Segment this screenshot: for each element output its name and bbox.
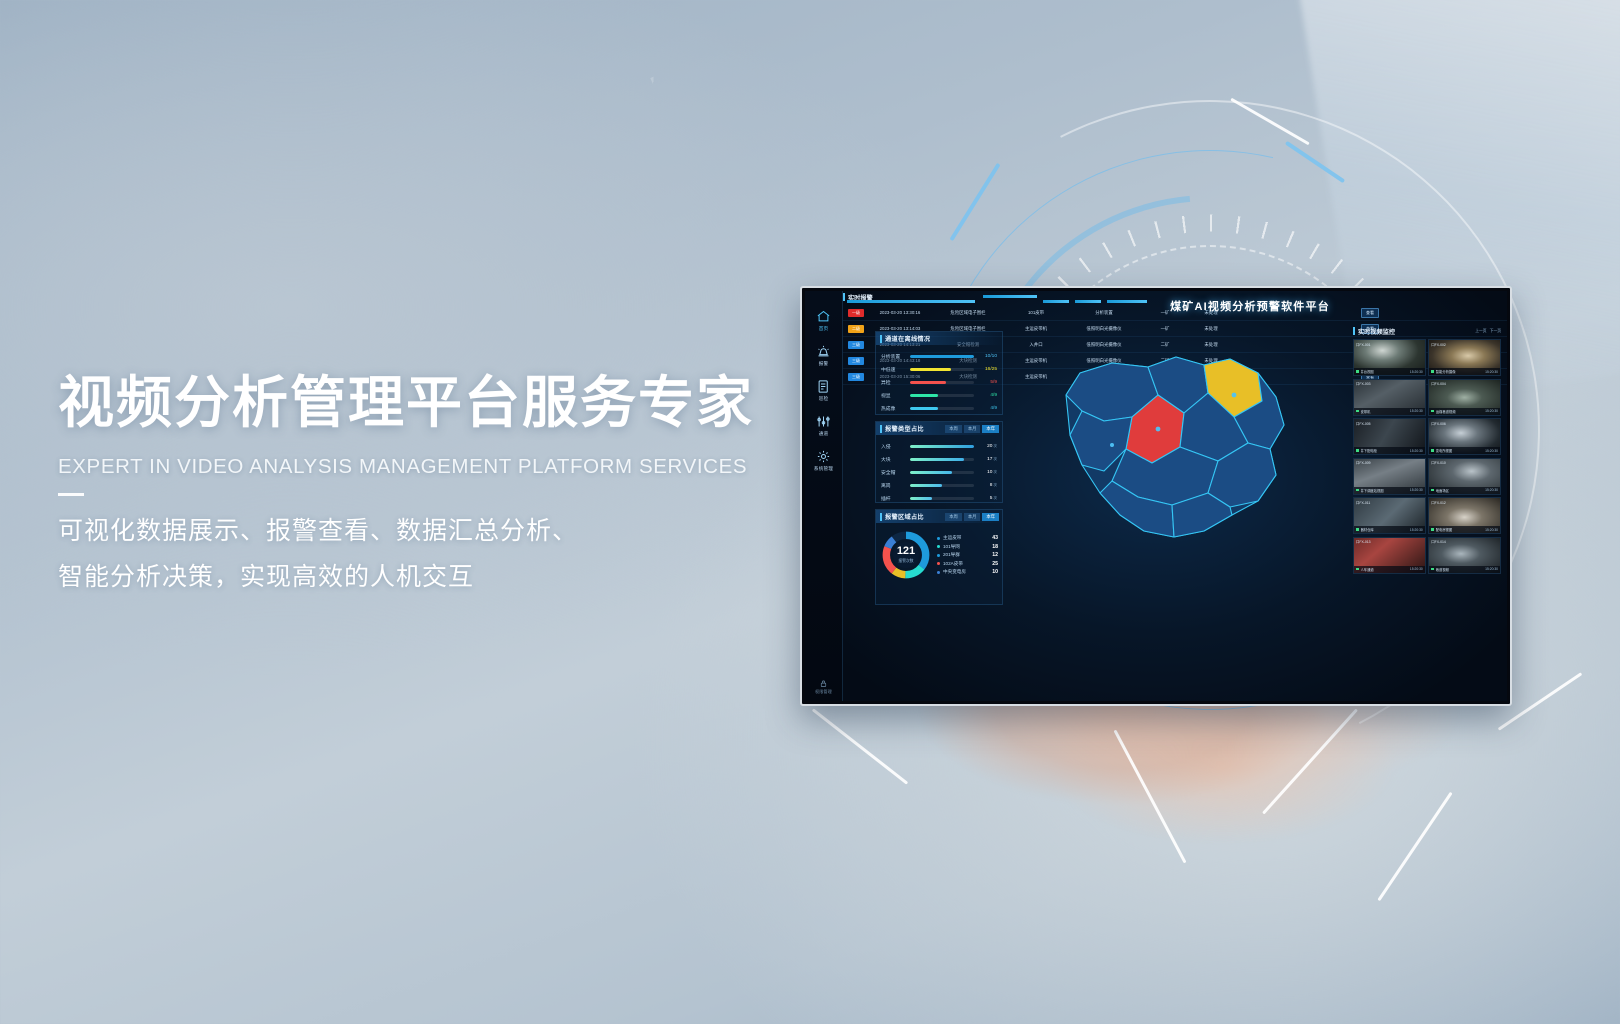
donut-value: 121	[897, 546, 915, 557]
legend-dot	[937, 571, 940, 574]
camera-time: 15:20:30	[1410, 528, 1423, 532]
row-label: 中低速	[881, 366, 907, 373]
row-value: 16/25	[977, 367, 997, 372]
donut-chart[interactable]: 121 报警次数	[880, 529, 932, 581]
progress-track	[910, 394, 974, 397]
progress-track	[910, 368, 974, 371]
donut-section: 121 报警次数 主运皮带43 101导网18 201导群12 102A皮带25…	[876, 523, 1002, 581]
description-line-1: 可视化数据展示、报警查看、数据汇总分析、	[58, 508, 818, 554]
row-value: 10	[987, 470, 992, 475]
legend-item: 主运皮带43	[937, 535, 998, 541]
legend-label: 中央变电房	[943, 569, 989, 575]
camera-time: 15:20:30	[1485, 449, 1498, 453]
monitor-frame: 首页 报警 巡检 通道 系统管理 权限管理	[800, 286, 1512, 706]
online-rows: 分析装置 10/10 中低速 16/25 异检 5/9	[876, 345, 1002, 415]
legend-value: 43	[992, 535, 998, 541]
row-label: 安全帽	[881, 469, 907, 476]
video-tile[interactable]: 口FX-012 配电房视图15:20:30	[1428, 497, 1501, 534]
donut-caption: 报警次数	[898, 559, 913, 564]
list-item: 分析装置 10/10	[881, 350, 997, 363]
legend-item: 102A皮带25	[937, 561, 998, 567]
row-value: 4/9	[977, 393, 997, 398]
panel-video-wall: 实时视频监控 上一页 下一页 口FX-001 井台视图15:20:30 口FX	[1353, 325, 1501, 575]
page-title: 视频分析管理平台服务专家	[58, 372, 818, 435]
camera-code: 口FX-014	[1431, 539, 1446, 544]
panel-header: 通道在离线情况	[876, 332, 1002, 345]
divider	[58, 493, 84, 496]
camera-time: 15:20:30	[1485, 528, 1498, 532]
camera-name: 器材仓库	[1361, 527, 1408, 532]
progress-track	[910, 497, 974, 500]
legend-label: 101导网	[943, 544, 989, 550]
camera-name: 变电所视图	[1436, 448, 1483, 453]
status-badge: 三级	[848, 373, 864, 381]
sidebar-item-label: 通道	[819, 431, 829, 437]
progress-track	[910, 471, 974, 474]
video-tile[interactable]: 口FX-002 智能分析摄像15:20:30	[1428, 339, 1501, 376]
camera-name: 地面场区	[1436, 488, 1483, 493]
sidebar-item-label: 报警	[819, 361, 829, 367]
video-grid: 口FX-001 井台视图15:20:30 口FX-002 智能分析摄像15:20…	[1353, 339, 1501, 574]
camera-code: 口FX-002	[1431, 342, 1446, 347]
camera-time: 15:20:30	[1410, 488, 1423, 492]
row-label: 入侵	[881, 443, 907, 450]
type-rows: 入侵 20次 大块 17次 安全帽 10次 离	[876, 435, 1002, 505]
legend-value: 25	[992, 561, 998, 567]
donut-legend: 主运皮带43 101导网18 201导群12 102A皮带25 中央变电房10	[932, 535, 998, 575]
accent-bar	[880, 513, 882, 521]
row-unit: 次	[993, 496, 997, 500]
camera-name: 人车通道	[1361, 567, 1408, 572]
panel-channel-online: 通道在离线情况 分析装置 10/10 中低速 16/25 异检	[875, 331, 1003, 415]
row-label: 分析装置	[881, 353, 907, 360]
lock-icon	[819, 679, 828, 688]
camera-time: 15:20:30	[1410, 567, 1423, 571]
accent-bar	[1353, 327, 1355, 335]
camera-time: 15:20:30	[1485, 370, 1498, 374]
tab-year[interactable]: 本年	[982, 425, 999, 433]
panel-title: 实时视频监控	[1358, 327, 1395, 336]
sidebar-item-system[interactable]: 系统管理	[805, 449, 842, 472]
camera-name: 井下配电柜	[1361, 448, 1408, 453]
donut-center: 121 报警次数	[893, 542, 919, 568]
list-item: 中低速 16/25	[881, 363, 997, 376]
sidebar-item-channel[interactable]: 通道	[805, 414, 842, 437]
panel-title: 通道在离线情况	[885, 334, 930, 343]
video-tile[interactable]: 口FX-006 变电所视图15:20:30	[1428, 418, 1501, 455]
list-item: 热成像 4/9	[881, 402, 997, 415]
sidebar-item-alarm[interactable]: 报警	[805, 344, 842, 367]
row-unit: 次	[993, 444, 997, 448]
video-tile[interactable]: 口FX-014 巷道视频15:20:30	[1428, 537, 1501, 574]
list-item: 离岗 8次	[881, 479, 997, 492]
sidebar-item-inspection[interactable]: 巡检	[805, 379, 842, 402]
video-tile[interactable]: 口FX-009 井下调度站视图15:20:30	[1353, 458, 1426, 495]
row-unit: 次	[993, 470, 997, 474]
panel-alarm-type: 报警类型占比 本周 本月 本年 入侵 20次 大块	[875, 421, 1003, 503]
row-value: 20	[987, 444, 992, 449]
row-value: 10/10	[977, 354, 997, 359]
video-tile[interactable]: 口FX-011 器材仓库15:20:30	[1353, 497, 1426, 534]
progress-track	[910, 355, 974, 358]
camera-code: 口FX-001	[1356, 342, 1371, 347]
row-label: 视显	[881, 392, 907, 399]
camera-code: 口FX-009	[1356, 460, 1371, 465]
camera-name: 井下调度站视图	[1361, 488, 1408, 493]
tab-group: 本周 本月 本年	[945, 513, 1002, 521]
video-tile[interactable]: 口FX-010 地面场区15:20:30	[1428, 458, 1501, 495]
camera-time: 15:20:30	[1485, 567, 1498, 571]
marketing-copy: 视频分析管理平台服务专家 EXPERT IN VIDEO ANALYSIS MA…	[58, 372, 818, 600]
decor-ray	[812, 708, 908, 784]
description-line-2: 智能分析决策，实现高效的人机交互	[58, 554, 818, 600]
camera-time: 15:20:30	[1410, 449, 1423, 453]
camera-code: 口FX-006	[1431, 421, 1446, 426]
video-pagination: 上一页 下一页	[1475, 329, 1501, 334]
video-tile[interactable]: 口FX-005 井下配电柜15:20:30	[1353, 418, 1426, 455]
tab-month[interactable]: 本月	[964, 425, 981, 433]
sidebar-item-label: 巡检	[819, 396, 829, 402]
legend-dot	[937, 545, 940, 548]
panel-title: 报警类型占比	[885, 424, 924, 433]
sidebar-bottom-label: 权限管理	[815, 689, 832, 695]
row-label: 异检	[881, 379, 907, 386]
legend-value: 12	[992, 552, 998, 558]
camera-name: 井台视图	[1361, 369, 1408, 374]
row-value: 5	[990, 496, 993, 501]
progress-track	[910, 484, 974, 487]
camera-name: 智能分析摄像	[1436, 369, 1483, 374]
tab-week[interactable]: 本周	[945, 513, 962, 521]
video-tile[interactable]: 口FX-004 运煤巷道视频15:20:30	[1428, 379, 1501, 416]
legend-dot	[937, 537, 940, 540]
camera-code: 口FX-010	[1431, 460, 1446, 465]
row-label: 离岗	[881, 482, 907, 489]
row-value: 17	[987, 457, 992, 462]
gear-icon	[816, 449, 831, 464]
camera-time: 15:20:30	[1485, 488, 1498, 492]
progress-track	[910, 445, 974, 448]
legend-item: 中央变电房10	[937, 569, 998, 575]
dashboard-content: 煤矿AI视频分析预警软件平台	[843, 291, 1507, 701]
row-value: 4/9	[977, 406, 997, 411]
camera-code: 口FX-003	[1356, 381, 1371, 386]
dashboard-title: 煤矿AI视频分析预警软件平台	[993, 298, 1507, 314]
status-dot	[1431, 489, 1434, 492]
camera-name: 巷道视频	[1436, 567, 1483, 572]
map-svg	[1008, 325, 1348, 575]
legend-label: 主运皮带	[943, 535, 989, 541]
camera-name: 皮带机	[1361, 409, 1408, 414]
tab-week[interactable]: 本周	[945, 425, 962, 433]
list-item: 入侵 20次	[881, 440, 997, 453]
panel-header: 报警区域占比 本周 本月 本年	[876, 510, 1002, 523]
list-item: 插杆 5次	[881, 492, 997, 505]
camera-time: 15:20:30	[1410, 370, 1423, 374]
status-dot	[1356, 489, 1359, 492]
status-dot	[1431, 410, 1434, 413]
tab-month[interactable]: 本月	[964, 513, 981, 521]
row-unit: 次	[993, 483, 997, 487]
accent-bar	[880, 335, 882, 343]
page-subtitle: EXPERT IN VIDEO ANALYSIS MANAGEMENT PLAT…	[58, 455, 818, 479]
sidebar-item-label: 首页	[819, 326, 829, 332]
legend-value: 18	[992, 544, 998, 550]
status-dot	[1431, 528, 1434, 531]
sidebar-item-label: 系统管理	[814, 466, 833, 472]
camera-code: 口FX-004	[1431, 381, 1446, 386]
status-dot	[1356, 528, 1359, 531]
row-value: 8	[990, 483, 993, 488]
row-label: 热成像	[881, 405, 907, 412]
legend-dot	[937, 562, 940, 565]
legend-item: 101导网18	[937, 544, 998, 550]
video-tile[interactable]: 口FX-013 人车通道15:20:30	[1353, 537, 1426, 574]
list-item: 安全帽 10次	[881, 466, 997, 479]
video-tile[interactable]: 口FX-001 井台视图15:20:30	[1353, 339, 1426, 376]
status-dot	[1356, 568, 1359, 571]
camera-name: 运煤巷道视频	[1436, 409, 1483, 414]
dashboard-topbar: 煤矿AI视频分析预警软件平台	[843, 291, 1507, 325]
camera-code: 口FX-012	[1431, 500, 1446, 505]
list-item: 大块 17次	[881, 453, 997, 466]
status-dot	[1431, 568, 1434, 571]
accent-bar	[880, 425, 882, 433]
list-item: 异检 5/9	[881, 376, 997, 389]
panel-header: 报警类型占比 本周 本月 本年	[876, 422, 1002, 435]
row-unit: 次	[993, 457, 997, 461]
progress-track	[910, 458, 974, 461]
camera-name: 配电房视图	[1436, 527, 1483, 532]
legend-label: 102A皮带	[943, 561, 989, 567]
sidebar: 首页 报警 巡检 通道 系统管理 权限管理	[805, 291, 843, 701]
video-tile[interactable]: 口FX-003 皮带机15:20:30	[1353, 379, 1426, 416]
row-label: 插杆	[881, 495, 907, 502]
row-value: 5/9	[977, 380, 997, 385]
status-dot	[1431, 449, 1434, 452]
status-badge: 三级	[848, 357, 864, 365]
list-item: 视显 4/9	[881, 389, 997, 402]
panel-header: 实时视频监控 上一页 下一页	[1353, 325, 1501, 337]
status-dot	[1431, 370, 1434, 373]
camera-time: 15:20:30	[1485, 409, 1498, 413]
legend-value: 10	[992, 569, 998, 575]
inspection-icon	[816, 379, 831, 394]
channel-icon	[816, 414, 831, 429]
camera-code: 口FX-005	[1356, 421, 1371, 426]
tab-year[interactable]: 本年	[982, 513, 999, 521]
status-dot	[1356, 449, 1359, 452]
legend-label: 201导群	[943, 552, 989, 558]
camera-code: 口FX-013	[1356, 539, 1371, 544]
progress-track	[910, 407, 974, 410]
camera-code: 口FX-011	[1356, 500, 1370, 505]
panel-title: 报警区域占比	[885, 512, 924, 521]
dashboard-screen: 首页 报警 巡检 通道 系统管理 权限管理	[805, 291, 1507, 701]
sidebar-bottom[interactable]: 权限管理	[815, 679, 832, 701]
home-icon	[816, 309, 831, 324]
legend-dot	[937, 554, 940, 557]
next-page-button[interactable]: 下一页	[1490, 329, 1501, 334]
tab-group: 本周 本月 本年	[945, 425, 1002, 433]
sidebar-item-home[interactable]: 首页	[805, 309, 842, 332]
status-dot	[1356, 410, 1359, 413]
status-dot	[1356, 370, 1359, 373]
alarm-icon	[816, 344, 831, 359]
prev-page-button[interactable]: 上一页	[1475, 329, 1486, 334]
province-map[interactable]	[1008, 325, 1348, 575]
status-badge: 三级	[848, 341, 864, 349]
status-badge: 二级	[848, 325, 864, 333]
legend-item: 201导群12	[937, 552, 998, 558]
row-label: 大块	[881, 456, 907, 463]
progress-track	[910, 381, 974, 384]
camera-time: 15:20:30	[1410, 409, 1423, 413]
panel-alarm-area: 报警区域占比 本周 本月 本年	[875, 509, 1003, 605]
